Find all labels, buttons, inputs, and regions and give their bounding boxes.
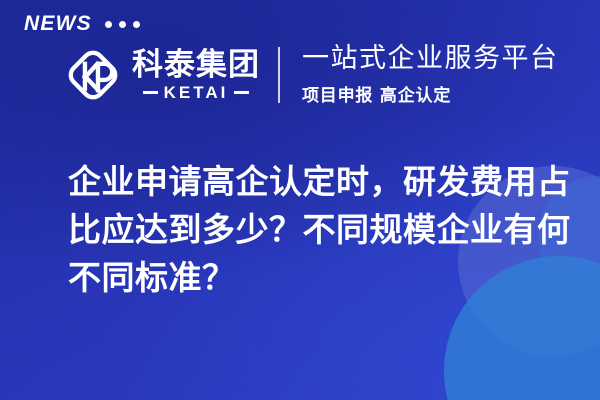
- headline-line: 比应达到多少？不同规模企业有何: [68, 206, 568, 254]
- news-label: NEWS: [24, 13, 92, 34]
- headline: 企业申请高企认定时，研发费用占 比应达到多少？不同规模企业有何 不同标准？: [68, 158, 568, 302]
- news-dots-icon: [105, 19, 140, 28]
- tagline-block: 一站式企业服务平台 项目申报 高企认定: [302, 44, 559, 105]
- dot-icon: [133, 21, 140, 28]
- dot-icon: [105, 21, 112, 28]
- ketai-logo-icon: [62, 44, 124, 106]
- tagline-sub: 项目申报 高企认定: [302, 81, 559, 106]
- brand-name-en: KETAI: [164, 84, 229, 101]
- brand-header: 科泰集团 KETAI 一站式企业服务平台 项目申报 高企认定: [62, 44, 559, 106]
- rule-left: [143, 91, 158, 94]
- news-banner: NEWS 科泰集团 KETAI: [0, 0, 600, 400]
- brand-name-cn: 科泰集团: [132, 50, 260, 82]
- rule-right: [234, 91, 249, 94]
- dot-icon: [119, 21, 126, 28]
- headline-line: 企业申请高企认定时，研发费用占: [68, 158, 568, 206]
- brand-name-en-row: KETAI: [143, 84, 250, 101]
- tagline-main: 一站式企业服务平台: [302, 44, 559, 74]
- news-eyebrow: NEWS: [24, 13, 140, 34]
- headline-line: 不同标准？: [68, 254, 568, 302]
- brand-divider: [278, 47, 280, 103]
- brand-wordmark: 科泰集团 KETAI: [132, 50, 260, 102]
